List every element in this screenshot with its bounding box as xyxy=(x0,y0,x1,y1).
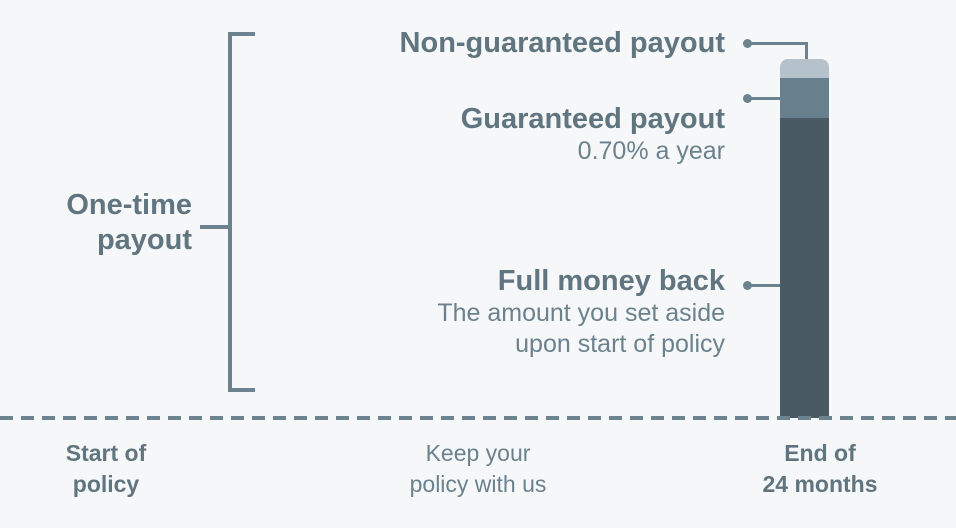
bar-segment-guaranteed-payout xyxy=(780,78,829,118)
guaranteed-payout-rate: 0.70% a year xyxy=(461,136,725,167)
bar-segment-non-guaranteed-payout xyxy=(780,59,829,78)
payout-illustration: One-time payout Non-guaranteed payout Gu… xyxy=(0,0,956,528)
guaranteed-payout-heading: Guaranteed payout xyxy=(461,102,725,136)
full-money-back-heading: Full money back xyxy=(437,264,725,298)
bracket-bottom-cap xyxy=(228,388,255,392)
annotation-non-guaranteed-payout: Non-guaranteed payout xyxy=(400,26,725,60)
footer-middle-line2: policy with us xyxy=(352,469,604,500)
full-money-back-subtext-line1: The amount you set aside xyxy=(437,298,725,329)
timeline-baseline xyxy=(0,416,956,420)
connector-line-full-money-back xyxy=(750,284,782,287)
one-time-payout-label-line1: One-time xyxy=(0,188,192,223)
bracket-top-cap xyxy=(228,32,255,36)
footer-end-line1: End of xyxy=(716,438,924,469)
footer-label-start-of-policy: Start of policy xyxy=(16,438,196,499)
connector-line-non-guaranteed-horizontal xyxy=(750,42,808,45)
connector-line-guaranteed xyxy=(750,97,782,100)
bracket-middle-tick xyxy=(200,225,228,229)
one-time-payout-label-line2: payout xyxy=(0,223,192,258)
non-guaranteed-payout-heading: Non-guaranteed payout xyxy=(400,26,725,60)
bar-segment-full-money-back xyxy=(780,118,829,418)
footer-middle-line1: Keep your xyxy=(352,438,604,469)
footer-label-end-of-24-months: End of 24 months xyxy=(716,438,924,499)
one-time-payout-label: One-time payout xyxy=(0,188,192,259)
footer-label-keep-policy: Keep your policy with us xyxy=(352,438,604,499)
one-time-payout-bracket xyxy=(228,32,232,392)
annotation-guaranteed-payout: Guaranteed payout 0.70% a year xyxy=(461,102,725,167)
stacked-payout-bar xyxy=(780,59,829,418)
footer-end-line2: 24 months xyxy=(716,469,924,500)
footer-start-line2: policy xyxy=(16,469,196,500)
annotation-full-money-back: Full money back The amount you set aside… xyxy=(437,264,725,361)
footer-start-line1: Start of xyxy=(16,438,196,469)
full-money-back-subtext-line2: upon start of policy xyxy=(437,329,725,360)
